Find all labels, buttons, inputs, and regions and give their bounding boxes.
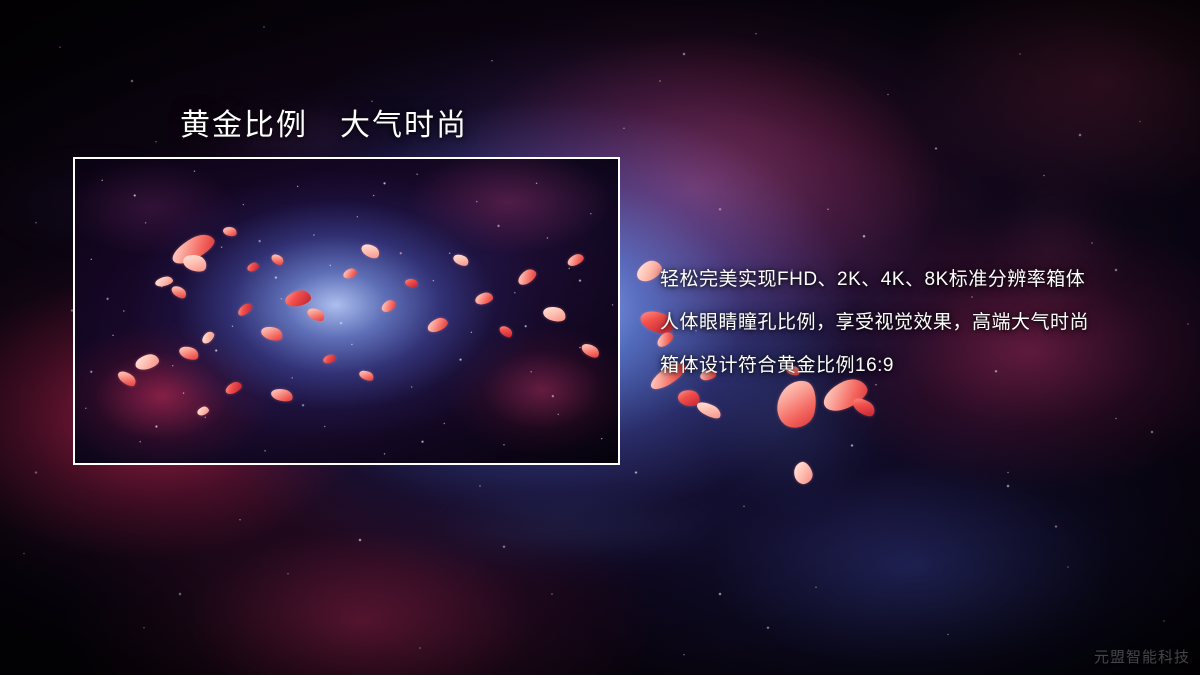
rose-petal-icon bbox=[695, 399, 724, 422]
preview-nebula-image bbox=[75, 159, 618, 463]
slide-canvas: 黄金比例 大气时尚 轻松完美实现FHD、2K、4K、8K标准分辨率箱体 人体眼睛… bbox=[0, 0, 1200, 675]
rose-petal-icon bbox=[791, 460, 815, 486]
body-line-1: 轻松完美实现FHD、2K、4K、8K标准分辨率箱体 bbox=[660, 258, 1150, 301]
body-line-2: 人体眼睛瞳孔比例，享受视觉效果，高端大气时尚 bbox=[660, 301, 1150, 344]
preview-frame[interactable] bbox=[73, 157, 620, 465]
body-copy: 轻松完美实现FHD、2K、4K、8K标准分辨率箱体 人体眼睛瞳孔比例，享受视觉效… bbox=[660, 258, 1150, 387]
body-line-3: 箱体设计符合黄金比例16:9 bbox=[660, 344, 1150, 387]
rose-petal-icon bbox=[850, 394, 878, 419]
page-title: 黄金比例 大气时尚 bbox=[180, 100, 468, 144]
watermark: 元盟智能科技 bbox=[1094, 646, 1190, 667]
